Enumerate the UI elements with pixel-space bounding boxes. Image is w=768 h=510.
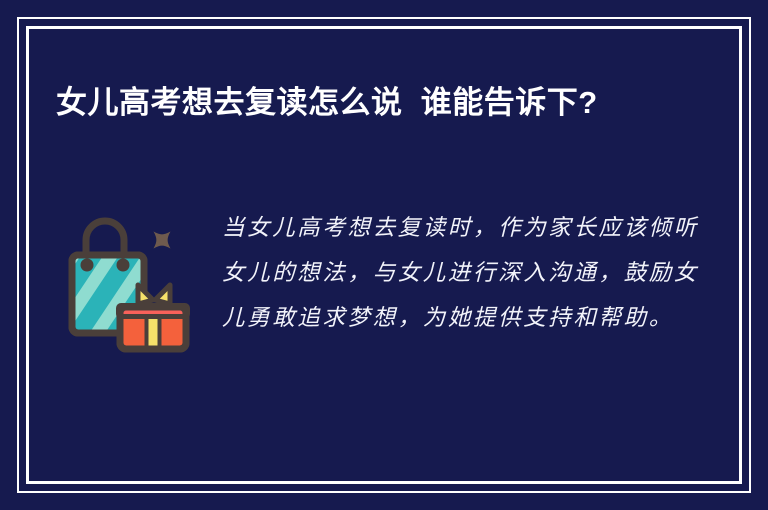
bag-handle-rivet-left [81,259,94,272]
body-paragraph: 当女儿高考想去复读时，作为家长应该倾听女儿的想法，与女儿进行深入沟通，鼓励女儿勇… [222,206,718,341]
bag-handle-rivet-right [117,259,130,272]
sparkle-icon [145,223,179,257]
shopping-bag-and-gift-illustration [50,212,200,372]
article-card: 女儿高考想去复读怎么说 谁能告诉下? [0,0,768,510]
content-row: 当女儿高考想去复读时，作为家长应该倾听女儿的想法，与女儿进行深入沟通，鼓励女儿勇… [50,200,718,372]
page-title: 女儿高考想去复读怎么说 谁能告诉下? [56,79,696,126]
gift-bow-right [155,285,170,304]
